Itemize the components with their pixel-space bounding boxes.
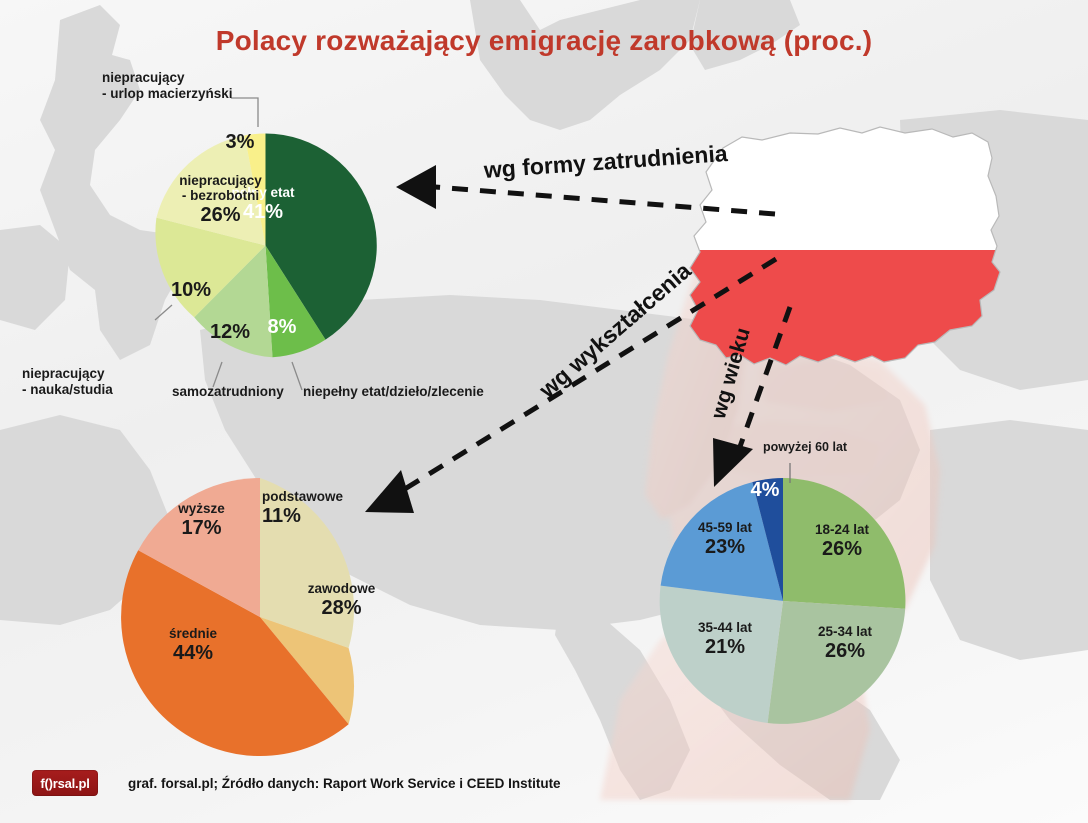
- source-credit: graf. forsal.pl; Źródło danych: Raport W…: [128, 776, 561, 791]
- infographic-canvas: Polacy rozważający emigrację zarobkową (…: [0, 0, 1088, 823]
- footer: f()rsal.pl graf. forsal.pl; Źródło danyc…: [32, 770, 561, 796]
- pie-callout-60plus: powyżej 60 lat: [763, 440, 903, 455]
- age-pie-leader-line: [0, 0, 1088, 823]
- forsal-logo[interactable]: f()rsal.pl: [32, 770, 98, 796]
